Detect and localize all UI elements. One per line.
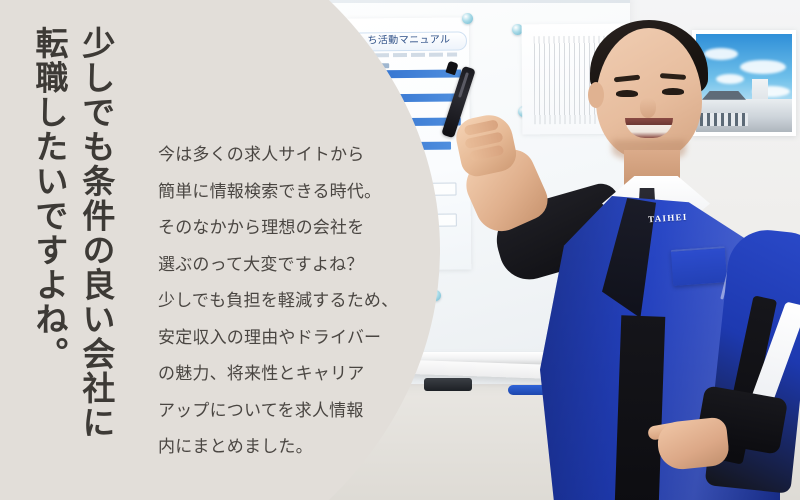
marker-pen-tip [445,61,458,76]
body-copy: 今は多くの求人サイトから 簡単に情報検索できる時代。 そのなかから理想の会社を … [158,137,426,466]
jacket-chest-pocket [671,246,727,286]
body-line: 今は多くの求人サイトから [158,137,426,174]
banner-root: ち活動マニュアル [0,0,800,500]
jacket-black-stripe [615,315,666,500]
body-line: 簡単に情報検索できる時代。 [158,174,426,211]
person-eye [616,90,638,97]
person-eye [662,88,684,95]
body-line: の魅力、将来性とキャリア [158,356,426,393]
person-nose [640,98,656,118]
body-line: 選ぶのって大変ですよね？ [158,247,426,284]
body-line: アップについてを求人情報 [158,393,426,430]
body-line: 安定収入の理由やドライバー [158,320,426,357]
headline: 少しでも条件の良い会社に 転職したいですよね。 [30,26,114,440]
person-hand-on-hip [656,416,731,471]
headline-column-2: 転職したいですよね。 [30,26,67,440]
body-line: 内にまとめました。 [158,429,426,466]
body-line: 少しでも負担を軽減するため、 [158,283,426,320]
headline-column-1: 少しでも条件の良い会社に [77,26,114,440]
body-line: そのなかから理想の会社を [158,210,426,247]
person-ear [588,82,604,108]
